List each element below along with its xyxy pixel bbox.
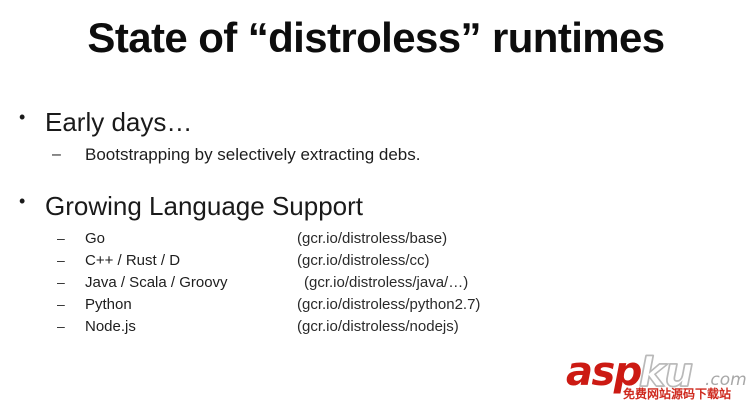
language-image-ref: (gcr.io/distroless/base) <box>297 231 447 248</box>
bullet-language-support-label: Growing Language Support <box>45 192 363 221</box>
language-name: Node.js <box>85 319 136 336</box>
list-item: – C++ / Rust / D (gcr.io/distroless/cc) <box>0 253 752 275</box>
list-item: – Java / Scala / Groovy (gcr.io/distrole… <box>0 275 752 297</box>
language-image-ref: (gcr.io/distroless/nodejs) <box>297 319 459 336</box>
slide-canvas: State of “distroless” runtimes • Early d… <box>0 0 752 416</box>
list-item: – Python (gcr.io/distroless/python2.7) <box>0 297 752 319</box>
list-item: – Go (gcr.io/distroless/base) <box>0 231 752 253</box>
language-name: Java / Scala / Groovy <box>85 275 228 292</box>
en-dash-icon: – <box>57 253 65 268</box>
language-image-ref: (gcr.io/distroless/java/…) <box>304 275 468 292</box>
page-title: State of “distroless” runtimes <box>0 14 752 62</box>
language-image-ref: (gcr.io/distroless/cc) <box>297 253 430 270</box>
en-dash-icon: – <box>57 297 65 312</box>
list-item: – Node.js (gcr.io/distroless/nodejs) <box>0 319 752 341</box>
watermark-brand-primary: asp <box>566 352 641 392</box>
en-dash-icon: – <box>57 319 65 334</box>
en-dash-icon: – <box>57 231 65 246</box>
bullet-dot-icon: • <box>19 108 25 128</box>
watermark-subtitle: 免费网站源码下载站 <box>623 388 731 400</box>
sub-bullet-bootstrapping-label: Bootstrapping by selectively extracting … <box>85 146 420 165</box>
bullet-dot-icon: • <box>19 192 25 212</box>
language-image-ref: (gcr.io/distroless/python2.7) <box>297 297 480 314</box>
en-dash-icon: – <box>52 146 61 164</box>
language-list: – Go (gcr.io/distroless/base) – C++ / Ru… <box>0 231 752 341</box>
language-name: Go <box>85 231 105 248</box>
watermark-logo: asp ku .com 免费网站源码下载站 <box>566 352 752 404</box>
en-dash-icon: – <box>57 275 65 290</box>
bullet-early-days-label: Early days… <box>45 108 192 137</box>
language-name: C++ / Rust / D <box>85 253 180 270</box>
language-name: Python <box>85 297 132 314</box>
